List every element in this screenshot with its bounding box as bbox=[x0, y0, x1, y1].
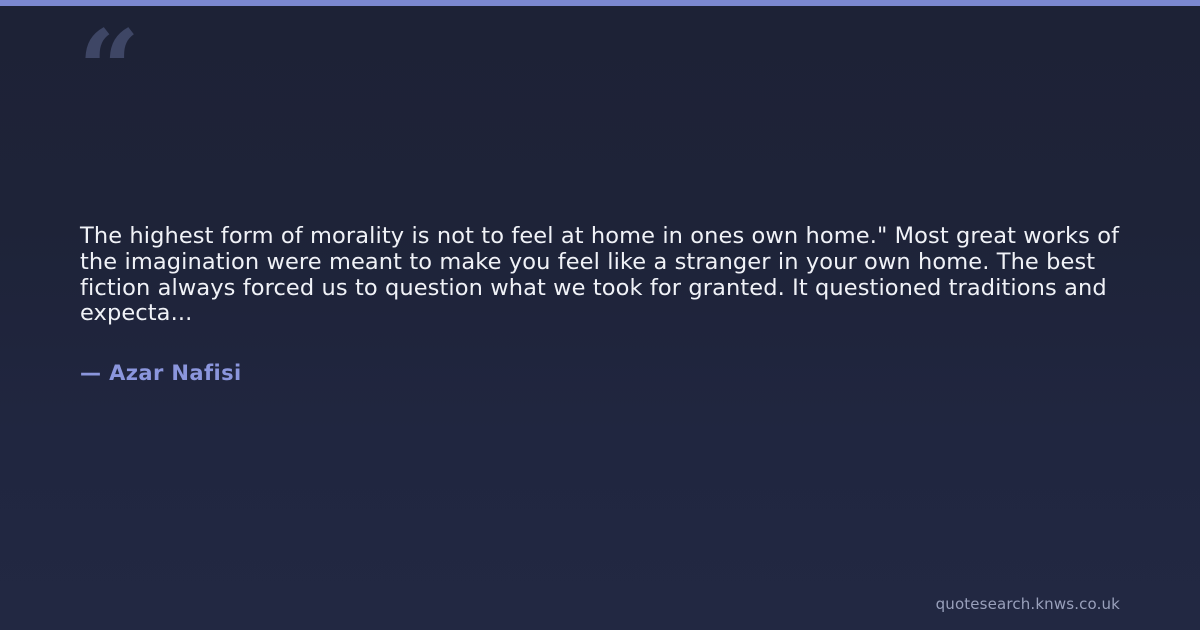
decorative-quote-icon: “ bbox=[78, 16, 138, 124]
quote-text: The highest form of morality is not to f… bbox=[80, 224, 1122, 327]
quote-content: The highest form of morality is not to f… bbox=[80, 224, 1122, 385]
top-accent-bar bbox=[0, 0, 1200, 6]
quote-attribution: — Azar Nafisi bbox=[80, 327, 1122, 385]
site-url-label: quotesearch.knws.co.uk bbox=[936, 595, 1120, 613]
quote-card: “ The highest form of morality is not to… bbox=[0, 0, 1200, 630]
